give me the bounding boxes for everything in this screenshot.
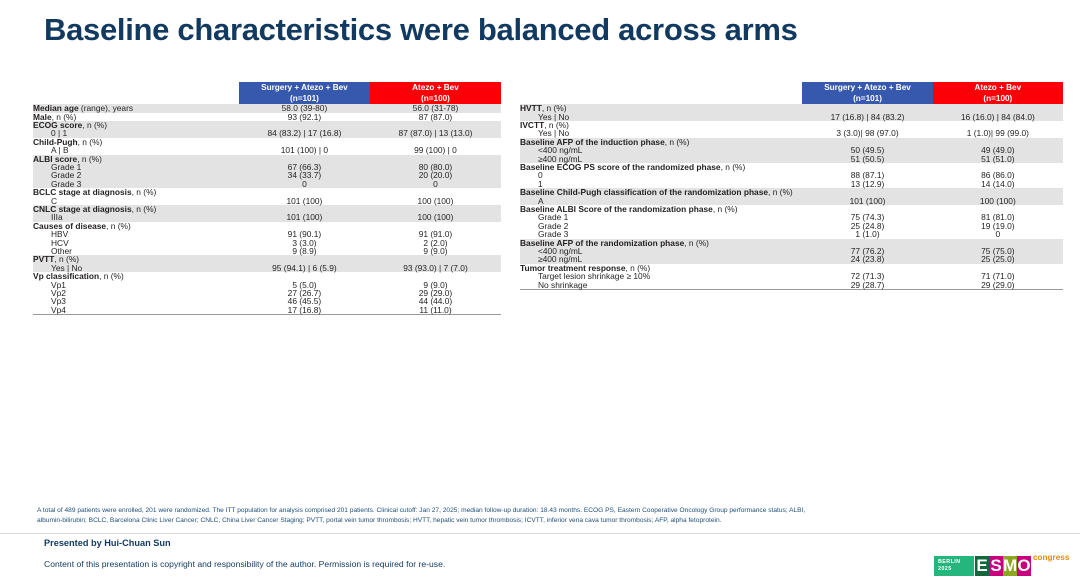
- table-row: Grade 234 (33.7)20 (20.0): [33, 171, 501, 179]
- row-sub-label: 0: [520, 171, 802, 179]
- cell-arm-surgery-atezo-bev: 17 (16.8): [239, 306, 370, 314]
- header-arm-atezo-bev: Atezo + Bev (n=100): [933, 82, 1063, 104]
- esmo-letter-e: E: [975, 556, 989, 576]
- footnote-line-2: albumin-bilirubin; BCLC, Barcelona Clini…: [37, 516, 1047, 526]
- cell-arm-atezo-bev: 25 (25.0): [933, 255, 1063, 263]
- left-table-body: Median age (range), years58.0 (39-80)56.…: [33, 104, 501, 314]
- cell-arm-surgery-atezo-bev: 9 (8.9): [239, 247, 370, 255]
- cell-arm-surgery-atezo-bev: 95 (94.1) | 6 (5.9): [239, 264, 370, 272]
- row-label-bold: Baseline ECOG PS score of the randomized…: [520, 162, 721, 172]
- cell-arm-surgery-atezo-bev: 13 (12.9): [802, 180, 932, 188]
- table-header-row: Surgery + Atezo + Bev (n=101) Atezo + Be…: [520, 82, 1063, 104]
- esmo-letter-m: M: [1003, 556, 1017, 576]
- footer-divider: [0, 533, 1080, 534]
- header-arm-b-line1: Atezo + Bev: [412, 83, 459, 92]
- header-arm-a-line2: (n=101): [853, 94, 882, 103]
- cell-arm-atezo-bev: 1 (1.0)| 99 (99.0): [933, 129, 1063, 137]
- row-label-bold: Baseline Child-Pugh classification of th…: [520, 187, 768, 197]
- cell-arm-atezo-bev: 0: [933, 230, 1063, 238]
- cell-arm-surgery-atezo-bev: 0: [239, 180, 370, 188]
- header-arm-b-line2: (n=100): [983, 94, 1012, 103]
- cell-arm-surgery-atezo-bev: 101 (100): [802, 197, 932, 205]
- esmo-wordmark: E S M O: [975, 556, 1031, 576]
- baseline-characteristics-table-left: Surgery + Atezo + Bev (n=101) Atezo + Be…: [33, 82, 501, 315]
- table-row: A | B101 (100) | 099 (100) | 0: [33, 146, 501, 154]
- cell-arm-atezo-bev: 87 (87.0) | 13 (13.0): [370, 129, 501, 137]
- esmo-letter-o: O: [1017, 556, 1031, 576]
- footnote: A total of 489 patients were enrolled, 2…: [37, 506, 1047, 526]
- header-arm-a-line1: Surgery + Atezo + Bev: [824, 83, 911, 92]
- cell-arm-atezo-bev: 14 (14.0): [933, 180, 1063, 188]
- cell-arm-atezo-bev: 11 (11.0): [370, 306, 501, 314]
- header-arm-b-line2: (n=100): [421, 94, 450, 103]
- presented-by: Presented by Hui-Chuan Sun: [44, 538, 171, 548]
- cell-arm-surgery-atezo-bev: 29 (28.7): [802, 281, 932, 289]
- header-arm-b-line1: Atezo + Bev: [975, 83, 1022, 92]
- cell-arm-atezo-bev: 9 (9.0): [370, 247, 501, 255]
- logo-year: 2025: [938, 566, 974, 573]
- copyright-notice: Content of this presentation is copyrigh…: [44, 559, 445, 569]
- row-sub-label: No shrinkage: [520, 281, 802, 289]
- cell-arm-atezo-bev: 87 (87.0): [370, 113, 501, 121]
- cell-arm-atezo-bev: 100 (100): [370, 197, 501, 205]
- esmo-letter-s: S: [989, 556, 1003, 576]
- table-row: Yes | No17 (16.8) | 84 (83.2)16 (16.0) |…: [520, 113, 1063, 121]
- table-header-row: Surgery + Atezo + Bev (n=101) Atezo + Be…: [33, 82, 501, 104]
- left-table-wrap: Surgery + Atezo + Bev (n=101) Atezo + Be…: [33, 82, 501, 315]
- congress-label: congress: [1033, 553, 1069, 562]
- cell-arm-surgery-atezo-bev: 84 (83.2) | 17 (16.8): [239, 129, 370, 137]
- cell-arm-surgery-atezo-bev: 101 (100): [239, 213, 370, 221]
- cell-arm-atezo-bev: 100 (100): [933, 197, 1063, 205]
- row-category-label: Baseline Child-Pugh classification of th…: [520, 188, 802, 196]
- cell-arm-atezo-bev: 0: [370, 180, 501, 188]
- right-table-wrap: Surgery + Atezo + Bev (n=101) Atezo + Be…: [520, 82, 1063, 315]
- header-arm-a-line2: (n=101): [290, 94, 319, 103]
- row-category-label: CNLC stage at diagnosis, n (%): [33, 205, 239, 213]
- cell-arm-atezo-bev: 100 (100): [370, 213, 501, 221]
- esmo-congress-logo: BERLIN 2025 E S M O congress: [934, 552, 1054, 580]
- header-arm-surgery-atezo-bev: Surgery + Atezo + Bev (n=101): [802, 82, 932, 104]
- cell-arm-atezo-bev: 29 (29.0): [933, 281, 1063, 289]
- cell-arm-atezo-bev: 51 (51.0): [933, 155, 1063, 163]
- cell-arm-surgery-atezo-bev: 1 (1.0): [802, 230, 932, 238]
- cell-arm-surgery-atezo-bev: 51 (50.5): [802, 155, 932, 163]
- header-arm-atezo-bev: Atezo + Bev (n=100): [370, 82, 501, 104]
- header-arm-a-line1: Surgery + Atezo + Bev: [261, 83, 348, 92]
- table-row: No shrinkage29 (28.7)29 (29.0): [520, 281, 1063, 289]
- header-arm-surgery-atezo-bev: Surgery + Atezo + Bev (n=101): [239, 82, 370, 104]
- row-category-label: BCLC stage at diagnosis, n (%): [33, 188, 239, 196]
- table-row: 0 | 184 (83.2) | 17 (16.8)87 (87.0) | 13…: [33, 129, 501, 137]
- header-blank-cell: [520, 82, 802, 104]
- table-row: Grade 225 (24.8)19 (19.0): [520, 222, 1063, 230]
- row-label-bold: CNLC stage at diagnosis: [33, 204, 132, 214]
- logo-city: BERLIN: [938, 559, 974, 566]
- footnote-line-1: A total of 489 patients were enrolled, 2…: [37, 506, 1047, 516]
- page-title: Baseline characteristics were balanced a…: [44, 12, 798, 48]
- header-blank-cell: [33, 82, 239, 104]
- table-row: Vp417 (16.8)11 (11.0): [33, 306, 501, 314]
- cell-arm-surgery-atezo-bev: 24 (23.8): [802, 255, 932, 263]
- cell-arm-surgery-atezo-bev: 17 (16.8) | 84 (83.2): [802, 113, 932, 121]
- tables-container: Surgery + Atezo + Bev (n=101) Atezo + Be…: [0, 82, 1080, 315]
- berlin-2025-badge: BERLIN 2025: [934, 556, 974, 576]
- cell-arm-surgery-atezo-bev: 93 (92.1): [239, 113, 370, 121]
- cell-arm-atezo-bev: 99 (100) | 0: [370, 146, 501, 154]
- cell-arm-atezo-bev: 16 (16.0) | 84 (84.0): [933, 113, 1063, 121]
- baseline-characteristics-table-right: Surgery + Atezo + Bev (n=101) Atezo + Be…: [520, 82, 1063, 290]
- table-row: Other9 (8.9)9 (9.0): [33, 247, 501, 255]
- cell-arm-surgery-atezo-bev: 101 (100): [239, 197, 370, 205]
- slide-root: Baseline characteristics were balanced a…: [0, 0, 1080, 586]
- row-label-bold: Causes of disease: [33, 221, 106, 231]
- cell-arm-atezo-bev: 93 (93.0) | 7 (7.0): [370, 264, 501, 272]
- right-table-body: HVTT, n (%)Yes | No17 (16.8) | 84 (83.2)…: [520, 104, 1063, 289]
- row-sub-label: Vp4: [33, 306, 239, 314]
- cell-arm-surgery-atezo-bev: 101 (100) | 0: [239, 146, 370, 154]
- cell-arm-surgery-atezo-bev: 3 (3.0)| 98 (97.0): [802, 129, 932, 137]
- row-label-bold: BCLC stage at diagnosis: [33, 187, 132, 197]
- row-category-label: Baseline ECOG PS score of the randomized…: [520, 163, 802, 171]
- row-label-bold: Vp classification: [33, 271, 99, 281]
